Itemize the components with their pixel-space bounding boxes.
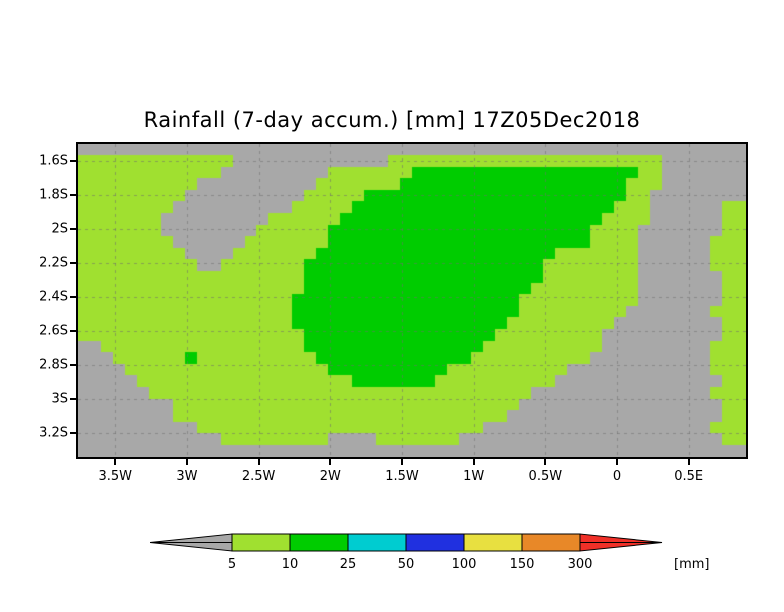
x-axis-tick-0: 3.5W (99, 469, 133, 484)
y-axis-tick-1: 1.8S (39, 188, 68, 203)
x-axis-tick-mark-4 (401, 459, 403, 465)
y-axis-tick-6: 2.8S (39, 358, 68, 373)
y-axis-tick-mark-2 (70, 228, 76, 230)
y-axis-tick-0: 1.6S (39, 154, 68, 169)
colorbar-units-label: [mm] (674, 557, 709, 572)
y-axis-tick-3: 2.2S (39, 256, 68, 271)
colorbar-legend[interactable]: 5102550100150300 [mm] (0, 530, 784, 590)
y-axis-tick-mark-4 (70, 296, 76, 298)
colorbar-box-2[interactable] (348, 534, 406, 551)
x-axis-tick-mark-0 (114, 459, 116, 465)
x-axis-tick-mark-3 (329, 459, 331, 465)
colorbar-box-0[interactable] (232, 534, 290, 551)
y-axis-tick-mark-7 (70, 398, 76, 400)
y-axis-tick-mark-6 (70, 364, 76, 366)
figure-root: Rainfall (7-day accum.) [mm] 17Z05Dec201… (0, 0, 784, 612)
y-axis-tick-mark-8 (70, 432, 76, 434)
colorbar-tick-3: 50 (398, 557, 415, 572)
x-axis-tick-2: 2.5W (242, 469, 276, 484)
colorbar-tick-1: 10 (282, 557, 299, 572)
colorbar-tick-4: 100 (452, 557, 477, 572)
y-axis-tick-5: 2.6S (39, 324, 68, 339)
page-title: Rainfall (7-day accum.) [mm] 17Z05Dec201… (0, 108, 784, 132)
map-plot-area[interactable] (76, 142, 748, 459)
y-axis-tick-8: 3.2S (39, 426, 68, 441)
x-axis-tick-7: 0 (613, 469, 621, 484)
y-axis-tick-mark-0 (70, 160, 76, 162)
x-axis-tick-1: 3W (176, 469, 197, 484)
x-axis-tick-mark-1 (186, 459, 188, 465)
x-axis-tick-8: 0.5E (674, 469, 703, 484)
rainfall-heatmap-canvas[interactable] (78, 144, 746, 457)
x-axis-tick-mark-6 (544, 459, 546, 465)
colorbar-tick-2: 25 (340, 557, 357, 572)
x-axis-tick-mark-2 (258, 459, 260, 465)
y-axis-tick-2: 2S (51, 222, 68, 237)
y-axis-tick-7: 3S (51, 392, 68, 407)
x-axis-tick-mark-5 (473, 459, 475, 465)
y-axis-tick-mark-1 (70, 194, 76, 196)
x-axis-tick-5: 1W (463, 469, 484, 484)
colorbar-box-5[interactable] (522, 534, 580, 551)
colorbar-tick-0: 5 (228, 557, 236, 572)
x-axis-tick-3: 2W (320, 469, 341, 484)
colorbar-tick-6: 300 (568, 557, 593, 572)
x-axis-tick-mark-7 (616, 459, 618, 465)
colorbar-box-4[interactable] (464, 534, 522, 551)
y-axis-tick-mark-3 (70, 262, 76, 264)
x-axis-tick-4: 1.5W (385, 469, 419, 484)
colorbar-tick-5: 150 (510, 557, 535, 572)
colorbar-box-3[interactable] (406, 534, 464, 551)
x-axis-tick-mark-8 (688, 459, 690, 465)
y-axis-tick-mark-5 (70, 330, 76, 332)
y-axis-tick-4: 2.4S (39, 290, 68, 305)
colorbar-box-1[interactable] (290, 534, 348, 551)
colorbar-swatches[interactable] (150, 530, 670, 556)
x-axis-tick-6: 0.5W (529, 469, 563, 484)
